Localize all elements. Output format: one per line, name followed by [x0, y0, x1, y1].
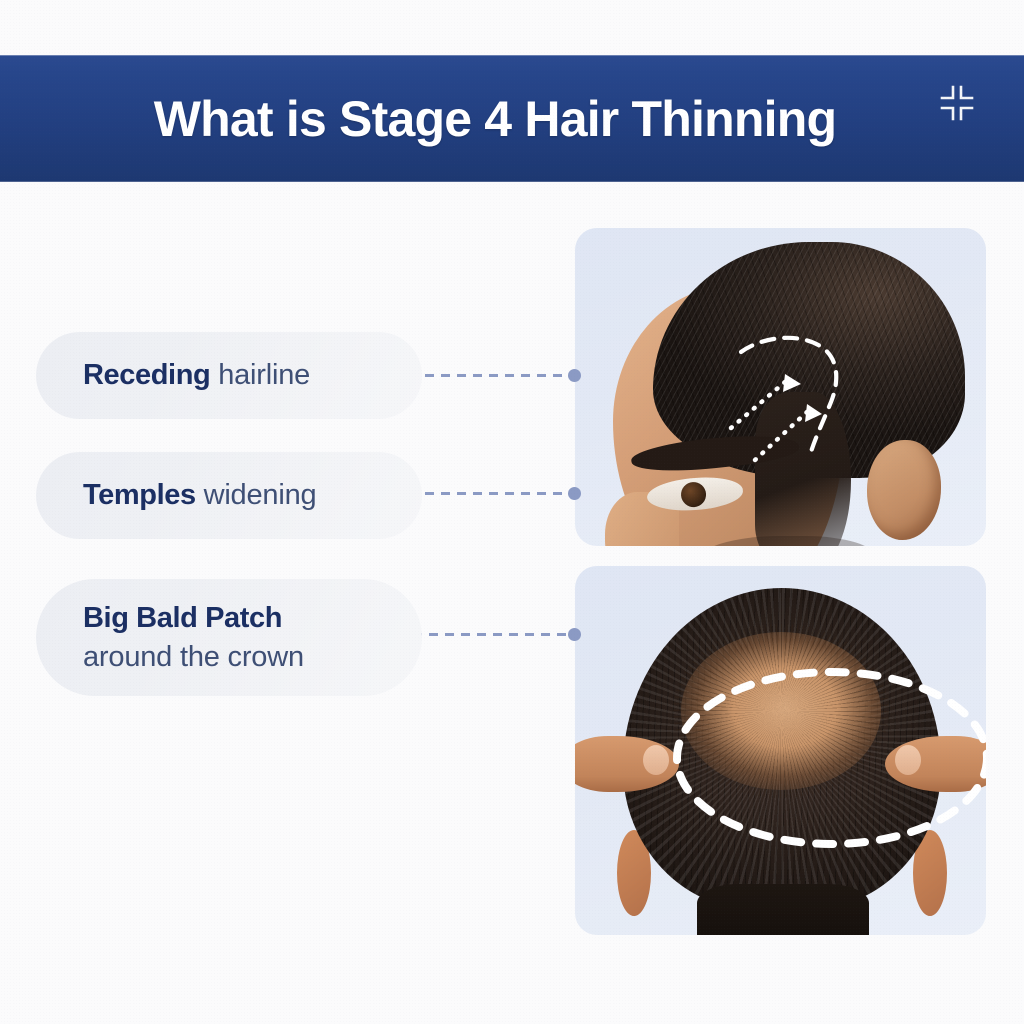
- label-pill-temples-widening: Temples widening: [36, 452, 422, 539]
- page-title: What is Stage 4 Hair Thinning: [154, 90, 870, 148]
- label-regular-text: widening: [196, 479, 317, 511]
- profile-head-illustration: [605, 242, 965, 546]
- label-bold-text: Receding: [83, 359, 210, 391]
- label-text-big-bald-patch: Big Bald Patch around the crown: [83, 601, 400, 674]
- label-bold-text: Temples: [83, 479, 196, 511]
- crosshair-plus-icon: [938, 84, 976, 122]
- label-text-receding-hairline: Receding hairline: [83, 358, 400, 392]
- connector-dot-temples-widening: [568, 487, 581, 500]
- connector-dot-receding-hairline: [568, 369, 581, 382]
- photo-card-side-profile-hairline: [575, 228, 986, 546]
- label-secondary-text: around the crown: [83, 640, 400, 674]
- crown-head-illustration: [623, 588, 941, 935]
- label-pill-receding-hairline: Receding hairline: [36, 332, 422, 419]
- header-band: What is Stage 4 Hair Thinning: [0, 55, 1024, 182]
- photo-side-profile-hairline: [575, 228, 986, 546]
- connector-line-temples-widening: [425, 492, 575, 495]
- label-text-temples-widening: Temples widening: [83, 478, 400, 512]
- label-regular-text: hairline: [210, 359, 310, 391]
- dotted-arrow-annotations: [727, 364, 867, 474]
- connector-line-big-bald-patch: [413, 633, 575, 636]
- crown-neck-hair: [697, 884, 869, 935]
- connector-dot-big-bald-patch: [568, 628, 581, 641]
- label-pill-big-bald-patch: Big Bald Patch around the crown: [36, 579, 422, 696]
- dashed-ellipse-annotation: [671, 666, 986, 850]
- fingernail-left: [643, 745, 669, 775]
- connector-line-receding-hairline: [425, 374, 575, 377]
- label-bold-text: Big Bald Patch: [83, 602, 282, 634]
- profile-iris: [680, 481, 707, 508]
- photo-crown-bald-patch: [575, 566, 986, 935]
- photo-card-crown-bald-patch: [575, 566, 986, 935]
- profile-ear: [867, 440, 941, 540]
